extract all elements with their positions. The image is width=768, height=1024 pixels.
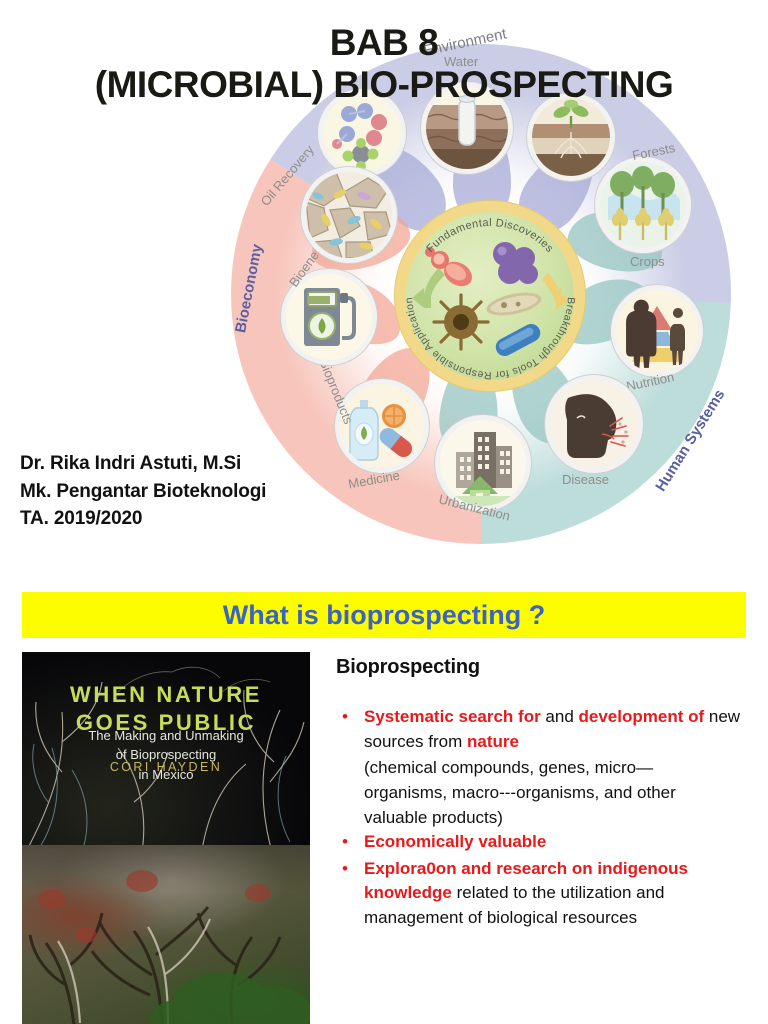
bullet-text-highlight: nature bbox=[467, 732, 519, 751]
page-title: BAB 8 (MICROBIAL) BIO-PROSPECTING bbox=[0, 22, 768, 106]
author-block: Dr. Rika Indri Astuti, M.Si Mk. Penganta… bbox=[20, 450, 266, 533]
section-banner: What is bioprospecting ? bbox=[22, 592, 746, 638]
hub-arc-svg: Fundamental Discoveries Breakthrough Too… bbox=[396, 202, 584, 390]
author-year: TA. 2019/2020 bbox=[20, 505, 266, 533]
bullet-text: and bbox=[545, 707, 578, 726]
book-title-line-1: WHEN NATURE bbox=[22, 681, 310, 709]
author-course: Mk. Pengantar Bioteknologi bbox=[20, 478, 266, 506]
node-label-disease: Disease bbox=[562, 472, 609, 487]
node-forests-crops[interactable] bbox=[600, 162, 686, 248]
bullet-item: •Economically valuable bbox=[336, 830, 750, 855]
book-cover-top: WHEN NATURE GOES PUBLIC The Making and U… bbox=[22, 652, 310, 845]
nutrition-icon bbox=[616, 290, 698, 372]
bullet-text-highlight: Systematic search for bbox=[364, 707, 545, 726]
bullet-marker: • bbox=[342, 857, 348, 882]
bullet-text-highlight: development of bbox=[579, 707, 709, 726]
author-name: Dr. Rika Indri Astuti, M.Si bbox=[20, 450, 266, 478]
slide-what-is-bioprospecting: What is bioprospecting ? bbox=[0, 578, 768, 1024]
bullet-text-highlight: Economically valuable bbox=[364, 832, 546, 851]
book-cover-photo bbox=[22, 845, 310, 1024]
content-heading: Bioprospecting bbox=[336, 656, 750, 679]
bullet-list: •Systematic search for and development o… bbox=[336, 705, 750, 931]
hub-bottom-label: Breakthrough Tools for Responsible Appli… bbox=[403, 297, 577, 381]
book-subtitle-line-1: The Making and Unmaking bbox=[22, 726, 310, 746]
burnt-trees-art-icon bbox=[22, 845, 310, 1024]
soil-plant-icon bbox=[532, 98, 610, 176]
hub-ring-labels: Fundamental Discoveries Breakthrough Too… bbox=[396, 202, 584, 390]
bullet-marker: • bbox=[342, 705, 348, 730]
node-nutrition[interactable] bbox=[616, 290, 698, 372]
bioprospecting-definition: Bioprospecting •Systematic search for an… bbox=[336, 656, 750, 933]
medicine-icon bbox=[340, 384, 424, 468]
title-line-2: (MICROBIAL) BIO-PROSPECTING bbox=[0, 64, 768, 106]
node-disease[interactable] bbox=[550, 380, 638, 468]
bullet-continuation-line: (chemical compounds, genes, micro— bbox=[336, 756, 750, 781]
book-cover-image: WHEN NATURE GOES PUBLIC The Making and U… bbox=[22, 652, 310, 1024]
book-subtitle: The Making and Unmaking of Bioprospectin… bbox=[22, 726, 310, 785]
node-medicine[interactable] bbox=[340, 384, 424, 468]
bullet-continuation-line: organisms, macro---organisms, and other bbox=[336, 781, 750, 806]
hub-top-label: Fundamental Discoveries bbox=[424, 217, 555, 255]
bioprospecting-wheel-diagram: Fundamental Discoveries Breakthrough Too… bbox=[228, 32, 734, 562]
title-line-1: BAB 8 bbox=[0, 22, 768, 64]
banner-title: What is bioprospecting ? bbox=[22, 592, 746, 638]
slide-title: Fundamental Discoveries Breakthrough Too… bbox=[0, 0, 768, 578]
book-author: CORI HAYDEN bbox=[22, 760, 310, 774]
bullet-item: •Systematic search for and development o… bbox=[336, 705, 750, 754]
disease-icon bbox=[550, 380, 638, 468]
forest-crops-icon bbox=[600, 162, 686, 248]
node-label-crops: Crops bbox=[630, 254, 665, 269]
bullet-continuation-line: valuable products) bbox=[336, 806, 750, 831]
node-soil-plant[interactable] bbox=[532, 98, 610, 176]
oil-recovery-icon bbox=[306, 172, 392, 258]
node-urbanization[interactable] bbox=[440, 420, 526, 506]
node-oil-recovery[interactable] bbox=[306, 172, 392, 258]
bullet-item: •Explora0on and research on indigenous k… bbox=[336, 857, 750, 931]
urbanization-icon bbox=[440, 420, 526, 506]
bullet-marker: • bbox=[342, 830, 348, 855]
